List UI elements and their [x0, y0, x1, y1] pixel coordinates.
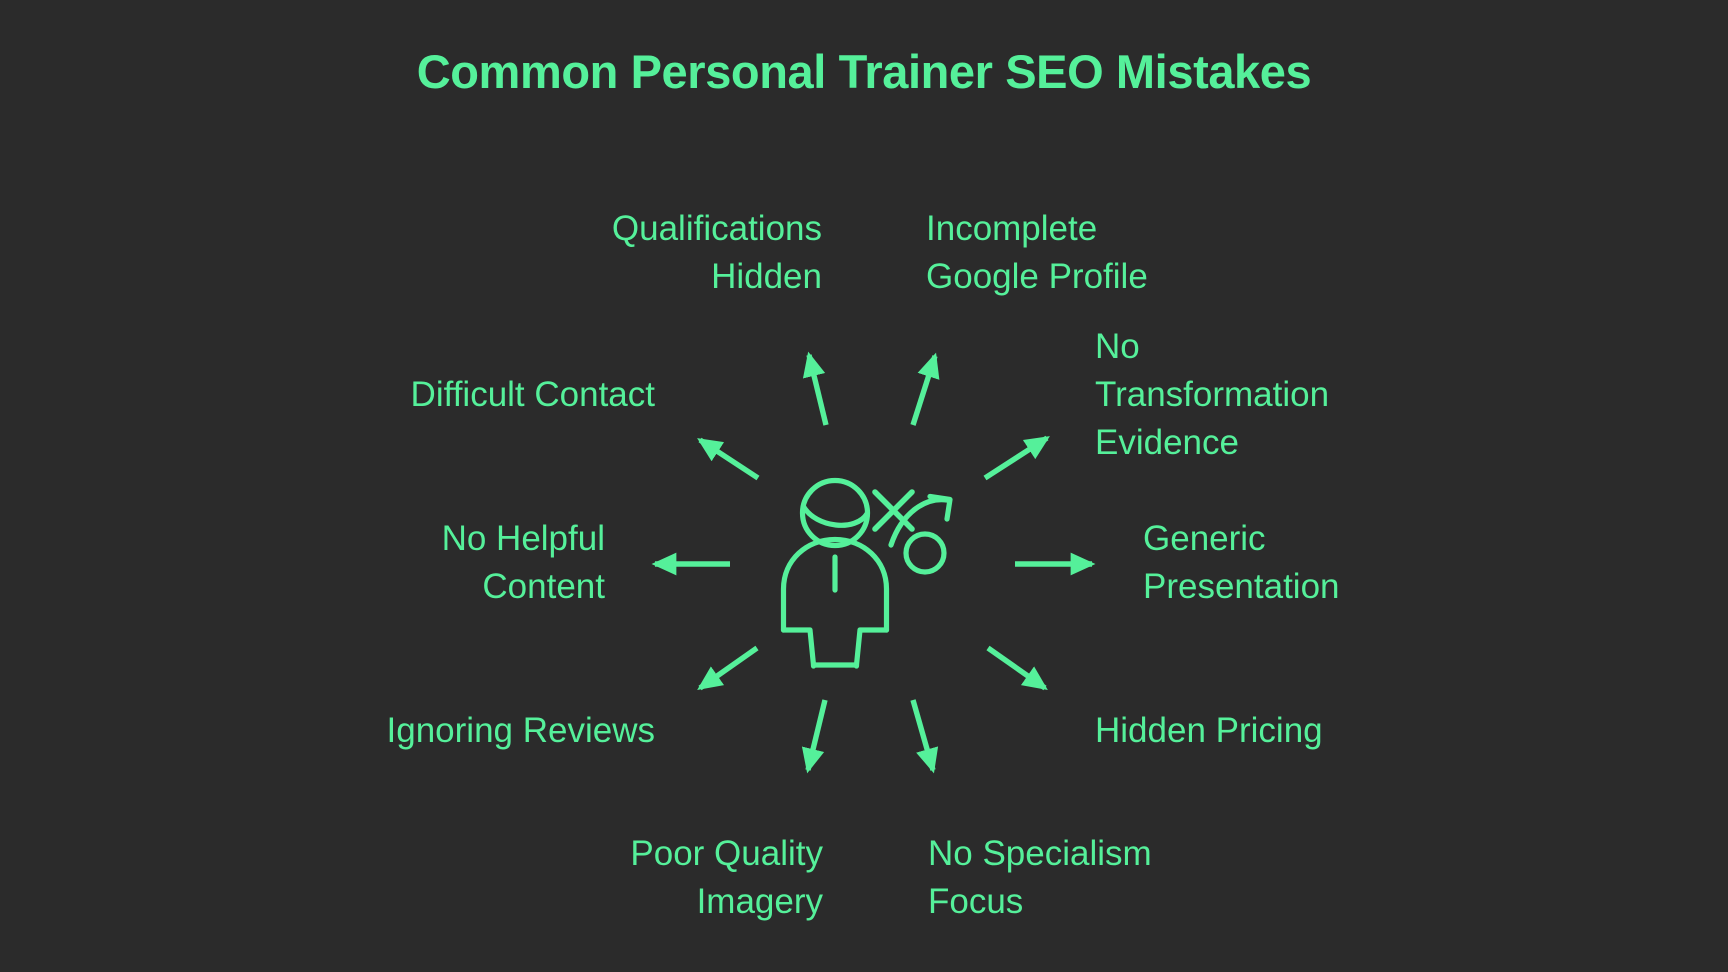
arrow-up-left [809, 355, 826, 425]
label-hidden-pricing: Hidden Pricing [1095, 707, 1495, 755]
x-mark-icon [875, 492, 912, 529]
arrow-diag-up-right [985, 438, 1047, 478]
label-qualifications-hidden: Qualifications Hidden [380, 205, 822, 301]
arrow-down-right [913, 700, 933, 770]
label-poor-quality-imagery: Poor Quality Imagery [380, 830, 823, 926]
person-figure [784, 481, 887, 667]
radial-diagram [0, 0, 1728, 972]
label-generic-presentation: Generic Presentation [1143, 515, 1543, 611]
label-no-specialism-focus: No Specialism Focus [928, 830, 1348, 926]
personal-trainer-strategy-icon [784, 481, 951, 667]
arrow-down-left [808, 700, 825, 770]
arrow-diag-up-left [700, 440, 758, 478]
label-no-helpful-content: No Helpful Content [175, 515, 605, 611]
arrow-up-right [913, 356, 935, 425]
diagram-canvas: Common Personal Trainer SEO Mistakes [0, 0, 1728, 972]
label-ignoring-reviews: Ignoring Reviews [220, 707, 655, 755]
ball-circle-icon [906, 534, 944, 572]
label-difficult-contact: Difficult Contact [225, 371, 655, 419]
label-no-transformation-evidence: No Transformation Evidence [1095, 323, 1495, 467]
arrow-diag-down-left [700, 648, 757, 688]
arrow-diag-down-right [988, 648, 1045, 688]
label-incomplete-google-profile: Incomplete Google Profile [926, 205, 1346, 301]
